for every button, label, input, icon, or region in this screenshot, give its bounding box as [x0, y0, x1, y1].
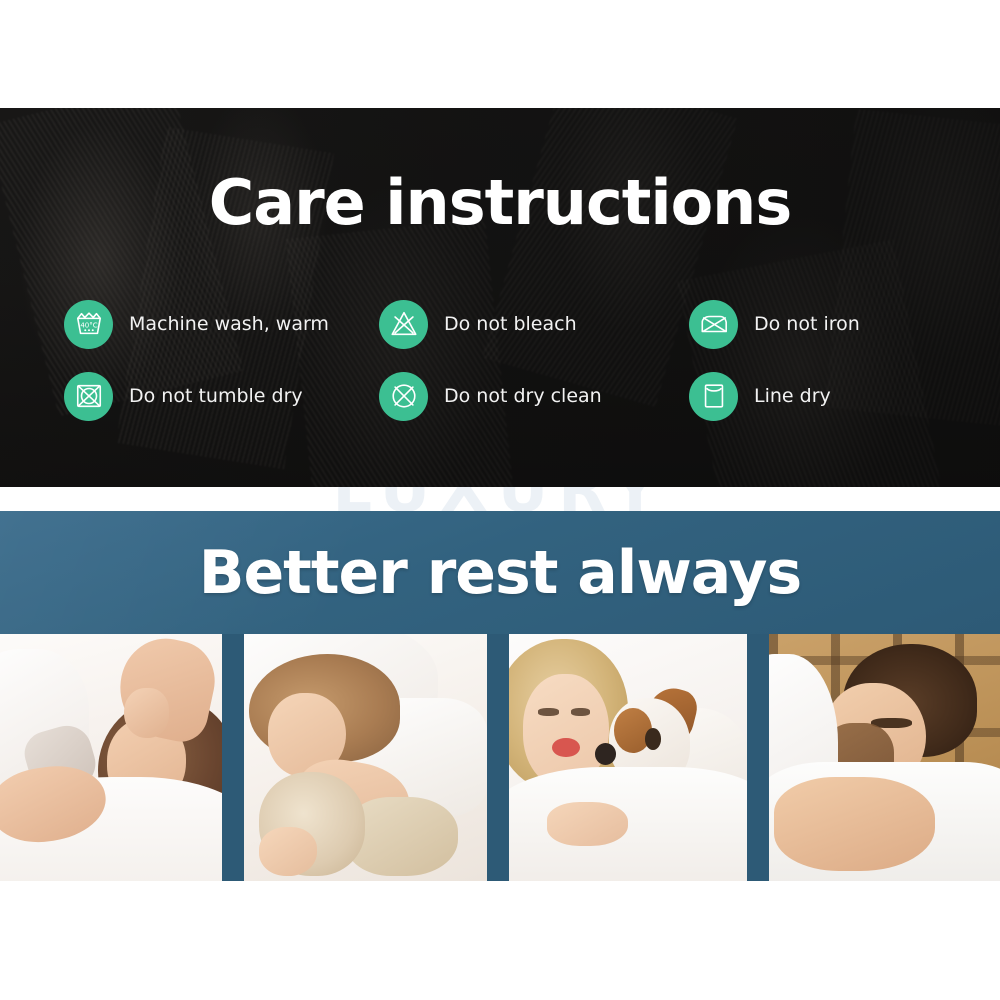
- top-white-margin: [0, 0, 1000, 108]
- care-item-do-not-tumble-dry: Do not tumble dry: [64, 372, 379, 421]
- care-item-line-dry: Line dry: [689, 372, 944, 421]
- do-not-bleach-icon: [379, 300, 428, 349]
- care-item-label: Do not iron: [754, 313, 860, 335]
- line-dry-icon: [689, 372, 738, 421]
- care-item-do-not-bleach: Do not bleach: [379, 300, 689, 349]
- photo-child-with-teddy: [244, 634, 487, 881]
- care-item-label: Line dry: [754, 385, 831, 407]
- photo-divider: [487, 634, 509, 881]
- bottom-white-margin: [0, 881, 1000, 1000]
- lifestyle-photo-strip: [0, 634, 1000, 881]
- care-instructions-title: Care instructions: [0, 170, 1000, 235]
- better-rest-banner: Better rest always: [0, 511, 1000, 634]
- product-care-page: Care instructions 40°C Machine wash, war…: [0, 0, 1000, 1000]
- do-not-dry-clean-icon: [379, 372, 428, 421]
- svg-text:40°C: 40°C: [80, 320, 97, 329]
- machine-wash-warm-icon: 40°C: [64, 300, 113, 349]
- photo-man-sleeping: [769, 634, 1000, 881]
- photo-woman-sleeping: [0, 634, 222, 881]
- care-item-do-not-iron: Do not iron: [689, 300, 944, 349]
- photo-woman-sleeping-image: [0, 634, 222, 881]
- section-divider-strip: LUXURY: [0, 487, 1000, 511]
- care-symbols-grid: 40°C Machine wash, warm: [64, 288, 944, 432]
- photo-divider: [222, 634, 244, 881]
- better-rest-title: Better rest always: [0, 538, 1000, 608]
- care-item-label: Do not tumble dry: [129, 385, 303, 407]
- care-item-machine-wash-warm: 40°C Machine wash, warm: [64, 300, 379, 349]
- care-item-label: Machine wash, warm: [129, 313, 329, 335]
- care-item-label: Do not bleach: [444, 313, 577, 335]
- watermark-text: LUXURY: [0, 487, 1000, 511]
- do-not-iron-icon: [689, 300, 738, 349]
- care-item-do-not-dry-clean: Do not dry clean: [379, 372, 689, 421]
- photo-man-sleeping-image: [769, 634, 1000, 881]
- care-instructions-section: Care instructions 40°C Machine wash, war…: [0, 108, 1000, 487]
- care-item-label: Do not dry clean: [444, 385, 602, 407]
- photo-divider: [747, 634, 769, 881]
- do-not-tumble-dry-icon: [64, 372, 113, 421]
- photo-woman-with-dog: [509, 634, 747, 881]
- photo-child-with-teddy-image: [244, 634, 487, 881]
- photo-woman-with-dog-image: [509, 634, 747, 881]
